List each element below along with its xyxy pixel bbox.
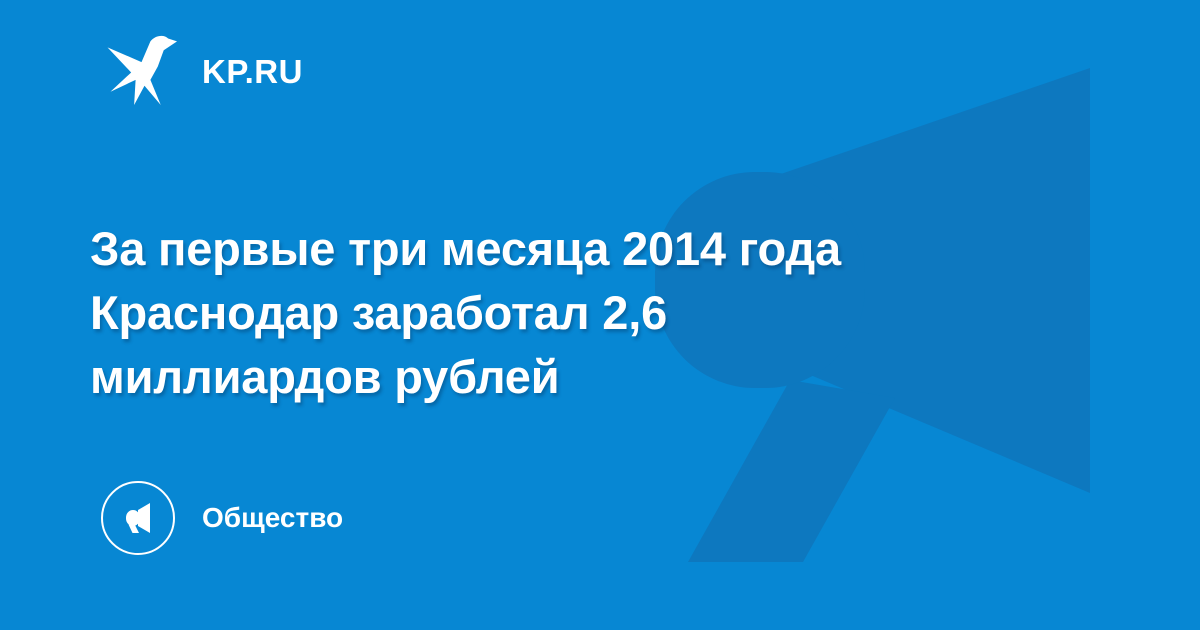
- megaphone-icon: [118, 498, 158, 538]
- category-badge[interactable]: Общество: [101, 481, 343, 555]
- swallow-bird-icon: [106, 34, 180, 108]
- headline-line-2: Краснодар заработал 2,6: [90, 281, 1050, 345]
- page-title: За первые три месяца 2014 года Краснодар…: [90, 217, 1050, 409]
- category-label: Общество: [202, 504, 343, 532]
- headline-line-3: миллиардов рублей: [90, 345, 1050, 409]
- headline-line-1: За первые три месяца 2014 года: [90, 217, 1050, 281]
- category-icon-ring: [101, 481, 175, 555]
- site-wordmark: KP.RU: [202, 55, 303, 88]
- share-card: KP.RU За первые три месяца 2014 года Кра…: [0, 0, 1200, 630]
- site-logo[interactable]: KP.RU: [106, 34, 303, 108]
